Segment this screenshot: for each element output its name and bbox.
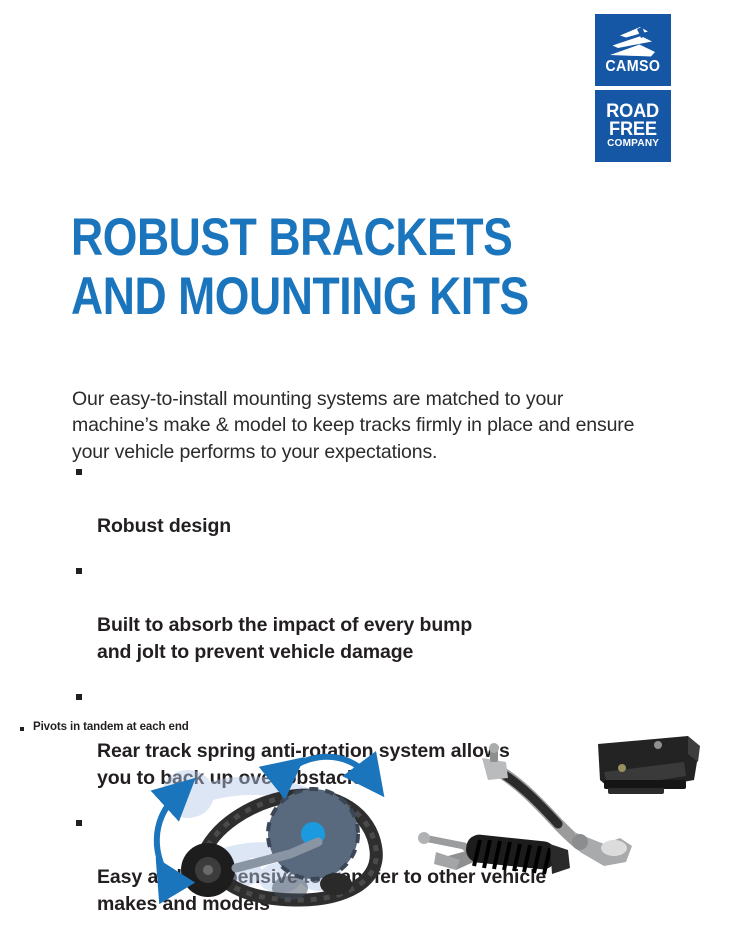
- list-item: Robust design: [72, 458, 652, 541]
- tagline-line-2: FREE: [609, 121, 657, 139]
- bullet-square-icon: [76, 469, 82, 475]
- bullet-square-icon: [76, 568, 82, 574]
- page-title: ROBUST BRACKETS AND MOUNTING KITS: [71, 208, 541, 326]
- black-mounting-bracket: [598, 736, 700, 794]
- drive-sprocket: [268, 789, 358, 879]
- list-item: Built to absorb the impact of every bump…: [72, 557, 652, 667]
- intro-paragraph: Our easy-to-install mounting systems are…: [72, 386, 648, 466]
- pivot-arrow-horizontal-icon: [286, 757, 370, 778]
- bullet-square-icon: [76, 820, 82, 826]
- camso-wordmark: CAMSO: [606, 59, 661, 75]
- tagline-line-3: COMPANY: [607, 139, 659, 149]
- coil-spring-link: [418, 832, 570, 874]
- idler-wheel: [181, 843, 235, 897]
- bullet-square-icon: [20, 727, 24, 731]
- list-item-label: Built to absorb the impact of every bump…: [97, 614, 472, 664]
- diagram-caption: Pivots in tandem at each end: [18, 721, 189, 733]
- road-free-company-tile: ROAD FREE COMPANY: [595, 90, 671, 162]
- list-item-label: Robust design: [97, 515, 231, 537]
- camso-brand-tile: CAMSO: [595, 14, 671, 86]
- track-system-pivot-diagram-svg: [140, 742, 410, 912]
- bullet-square-icon: [76, 694, 82, 700]
- camso-logo: CAMSO ROAD FREE COMPANY: [595, 14, 671, 162]
- brackets-and-mounting-kit-photo: [408, 728, 708, 888]
- track-system-pivot-diagram: [140, 742, 410, 912]
- diagram-caption-label: Pivots in tandem at each end: [33, 721, 189, 733]
- brackets-photo-svg: [408, 728, 708, 888]
- camso-track-mark-icon: [610, 27, 656, 57]
